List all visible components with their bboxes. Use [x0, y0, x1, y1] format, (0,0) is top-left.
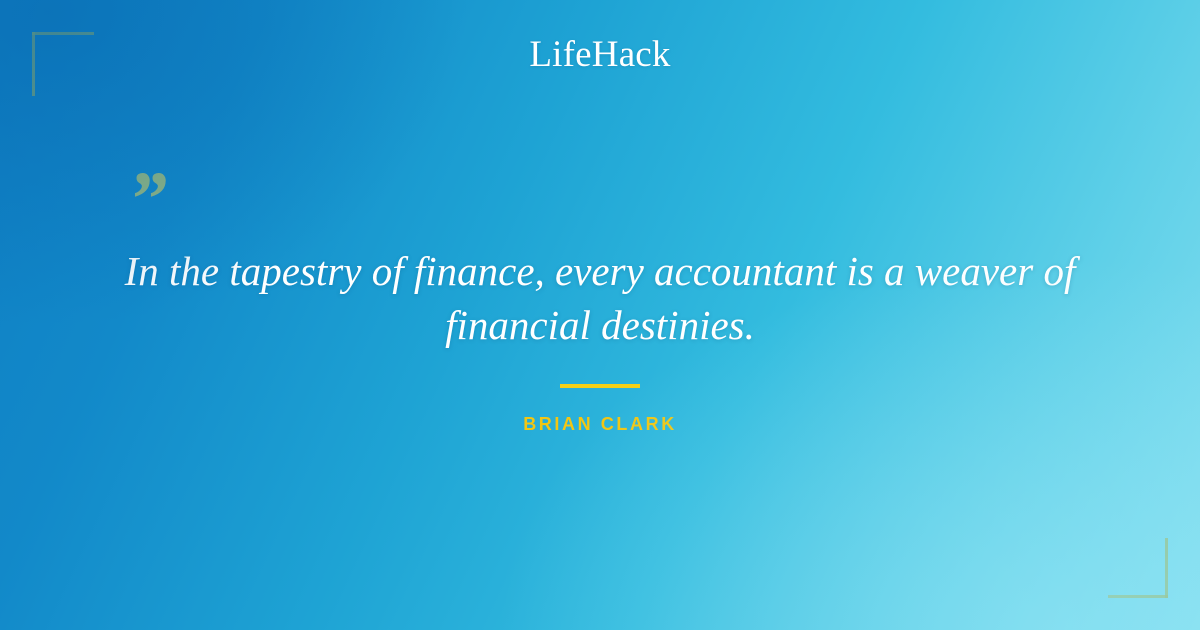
quote-text: In the tapestry of finance, every accoun…: [100, 244, 1100, 352]
corner-bracket-bottom-right-horizontal: [1108, 595, 1168, 598]
brand-logo: LifeHack: [0, 36, 1200, 75]
corner-bracket-bottom-right-vertical: [1165, 538, 1168, 598]
quote-author: BRIAN CLARK: [0, 414, 1200, 435]
gold-divider: [560, 384, 640, 388]
quote-mark-icon: ”: [128, 160, 167, 238]
corner-bracket-top-left-horizontal: [32, 32, 94, 35]
corner-bracket-bottom-right-icon: [1108, 538, 1168, 598]
quote-card: LifeHack ” In the tapestry of finance, e…: [0, 0, 1200, 630]
